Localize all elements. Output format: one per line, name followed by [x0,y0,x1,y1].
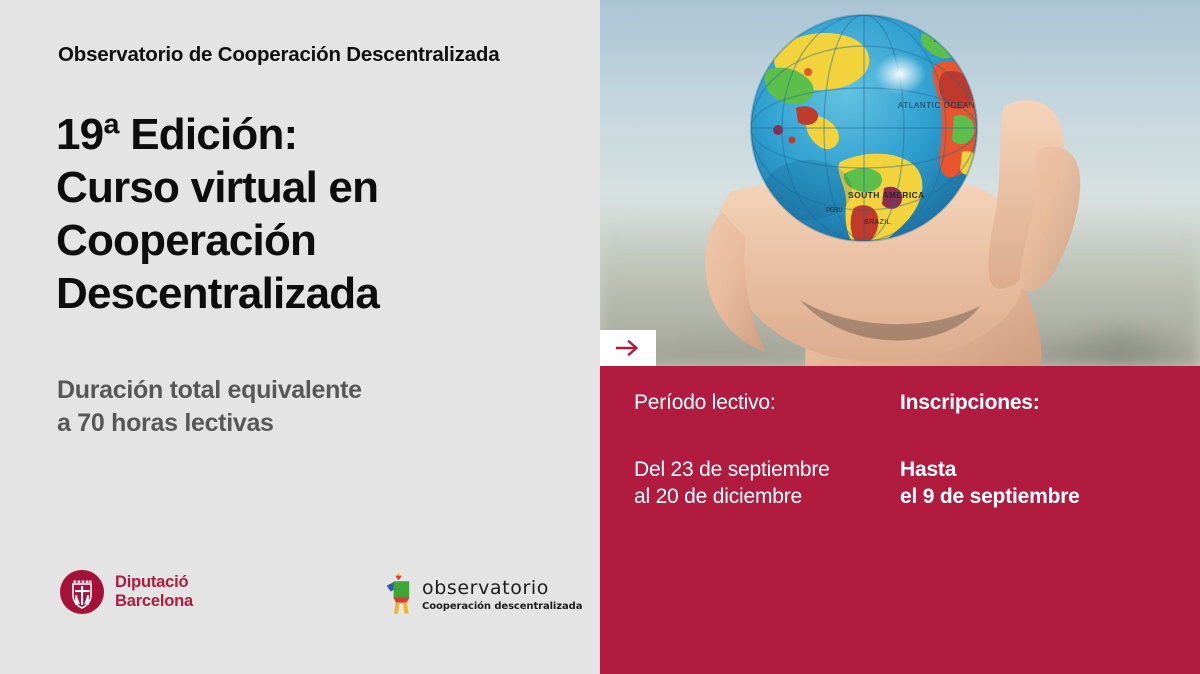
diputacio-line-1: Diputació [115,573,193,592]
inscripciones-value-line-1: Hasta [900,456,1160,483]
subtitle-line-1: Duración total equivalente [57,374,527,407]
hero-photo-hand-holding-globe: ATLANTIC OCEAN SOUTH AMERICA BRAZIL AFRI… [600,0,1200,366]
inscripciones-value: Hasta el 9 de septiembre [900,456,1160,510]
arrow-right-icon [615,339,641,357]
inscripciones-value-line-2: el 9 de septiembre [900,483,1160,510]
svg-text:ATLANTIC OCEAN: ATLANTIC OCEAN [898,101,975,110]
svg-text:SOUTH AMERICA: SOUTH AMERICA [848,190,925,200]
observatorio-name: observatorio [422,579,582,598]
diputacio-seal-icon [60,570,104,614]
svg-text:BRAZIL: BRAZIL [864,219,891,226]
promo-banner: Observatorio de Cooperación Descentraliz… [0,0,1200,674]
globe-illustration: ATLANTIC OCEAN SOUTH AMERICA BRAZIL AFRI… [748,12,980,244]
diputacio-logo-text: Diputació Barcelona [115,573,193,611]
observatorio-tagline: Cooperación descentralizada [422,600,582,613]
diputacio-barcelona-logo[interactable]: Diputació Barcelona [60,570,193,614]
headline-line-3: Cooperación [56,214,556,267]
periodo-lectivo-value: Del 23 de septiembre al 20 de diciembre [634,456,884,510]
diputacio-line-2: Barcelona [115,592,193,611]
observatorio-logo-text: observatorio Cooperación descentralizada [422,579,582,614]
subtitle-line-2: a 70 horas lectivas [57,407,527,440]
logo-row: Diputació Barcelona observatorio Coopera… [0,560,600,640]
periodo-lectivo-column: Período lectivo: Del 23 de septiembre al… [634,390,884,510]
inscripciones-column: Inscripciones: Hasta el 9 de septiembre [900,390,1160,510]
headline-line-1: 19ª Edición: [56,108,556,161]
organization-eyebrow: Observatorio de Cooperación Descentraliz… [58,43,499,67]
periodo-value-line-2: al 20 de diciembre [634,483,884,510]
headline-line-4: Descentralizada [56,267,556,320]
page-title: 19ª Edición: Curso virtual en Cooperació… [56,108,556,320]
inscripciones-label: Inscripciones: [900,390,1160,416]
periodo-value-line-1: Del 23 de septiembre [634,456,884,483]
headline-line-2: Curso virtual en [56,161,556,214]
left-content-panel: Observatorio de Cooperación Descentraliz… [0,0,600,674]
diputacio-crest-icon [60,570,104,614]
course-duration-subtitle: Duración total equivalente a 70 horas le… [57,374,527,440]
course-dates-panel: Período lectivo: Del 23 de septiembre al… [600,366,1200,674]
observatorio-figure-icon [382,572,416,614]
arrow-right-badge[interactable] [600,330,656,366]
observatorio-logo[interactable]: observatorio Cooperación descentralizada [382,572,582,614]
periodo-lectivo-label: Período lectivo: [634,390,884,416]
